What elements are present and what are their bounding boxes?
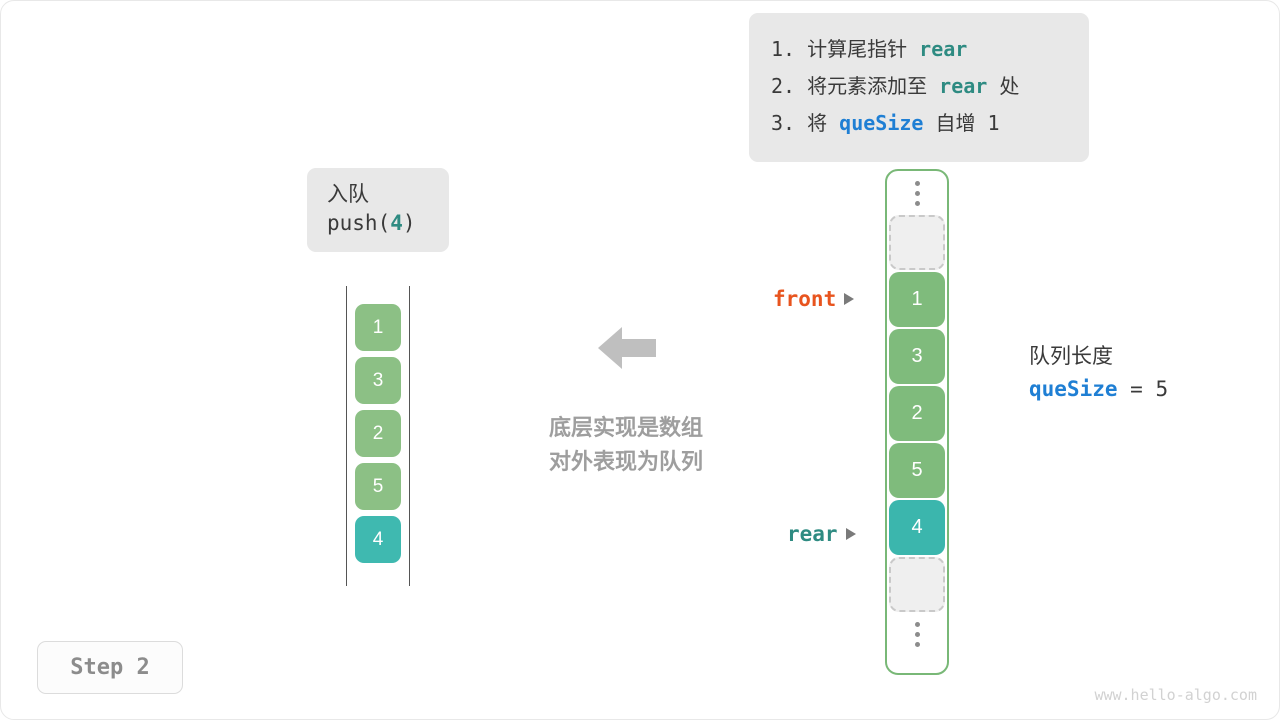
array-cell: 3 — [889, 329, 945, 384]
operation-box: 入队 push(4) — [307, 168, 449, 252]
transform-caption-line-1: 底层实现是数组 — [500, 411, 752, 445]
logical-queue: 1 3 2 5 4 — [346, 286, 410, 586]
operation-code-argument: 4 — [390, 211, 403, 235]
instruction-3-keyword: queSize — [839, 111, 923, 135]
array-cell-empty — [889, 557, 945, 612]
operation-code: push(4) — [327, 208, 449, 238]
instruction-panel: 1. 计算尾指针 rear 2. 将元素添加至 rear 处 3. 将 queS… — [749, 13, 1089, 162]
ellipsis-dot — [915, 191, 920, 196]
instruction-line-3: 3. 将 queSize 自增 1 — [771, 105, 1067, 142]
ellipsis-dot — [915, 632, 920, 637]
size-annotation-title: 队列长度 — [1029, 342, 1168, 372]
queue-cell: 3 — [355, 357, 401, 404]
instruction-3-prefix: 3. 将 — [771, 111, 839, 135]
ellipsis-dot — [915, 642, 920, 647]
array-cell-new: 4 — [889, 500, 945, 555]
ellipsis-dot — [915, 201, 920, 206]
queue-rail-left — [346, 286, 347, 586]
array-cell: 1 — [889, 272, 945, 327]
vertical-ellipsis-icon-top — [915, 171, 920, 215]
instruction-1-prefix: 1. 计算尾指针 — [771, 37, 919, 61]
size-annotation: 队列长度 queSize = 5 — [1029, 342, 1168, 406]
instruction-1-keyword: rear — [919, 37, 967, 61]
queue-cell: 2 — [355, 410, 401, 457]
caret-right-icon — [846, 528, 856, 540]
pointer-front-label: front — [773, 287, 836, 311]
queue-rail-right — [409, 286, 410, 586]
array-container: 1 3 2 5 4 — [885, 169, 949, 675]
ellipsis-dot — [915, 181, 920, 186]
operation-code-suffix: ) — [403, 211, 416, 235]
transform-caption: 底层实现是数组 对外表现为队列 — [500, 411, 752, 479]
array-cell: 2 — [889, 386, 945, 441]
instruction-2-keyword: rear — [939, 74, 987, 98]
size-annotation-expression: queSize = 5 — [1029, 372, 1168, 406]
ellipsis-dot — [915, 622, 920, 627]
illustration-canvas: 1. 计算尾指针 rear 2. 将元素添加至 rear 处 3. 将 queS… — [0, 0, 1280, 720]
arrow-left-icon — [596, 323, 658, 373]
array-cell: 5 — [889, 443, 945, 498]
pointer-rear-label: rear — [787, 522, 838, 546]
queue-cell: 5 — [355, 463, 401, 510]
operation-title: 入队 — [327, 181, 449, 208]
instruction-2-suffix: 处 — [987, 74, 1019, 98]
array-cell-empty — [889, 215, 945, 270]
instruction-line-2: 2. 将元素添加至 rear 处 — [771, 68, 1067, 105]
size-annotation-value: 5 — [1155, 377, 1168, 401]
queue-cells: 1 3 2 5 4 — [355, 304, 401, 563]
pointer-rear: rear — [787, 522, 856, 546]
transform-caption-line-2: 对外表现为队列 — [500, 445, 752, 479]
instruction-line-1: 1. 计算尾指针 rear — [771, 31, 1067, 68]
vertical-ellipsis-icon-bottom — [915, 612, 920, 656]
array-cells: 1 3 2 5 4 — [889, 215, 945, 612]
queue-cell: 1 — [355, 304, 401, 351]
operation-code-prefix: push( — [327, 211, 390, 235]
pointer-front: front — [773, 287, 854, 311]
instruction-3-suffix: 自增 1 — [923, 111, 999, 135]
caret-right-icon — [844, 293, 854, 305]
watermark: www.hello-algo.com — [1094, 686, 1257, 704]
instruction-2-prefix: 2. 将元素添加至 — [771, 74, 939, 98]
size-annotation-operator: = — [1118, 377, 1156, 401]
size-annotation-variable: queSize — [1029, 377, 1118, 401]
queue-cell-new: 4 — [355, 516, 401, 563]
step-badge: Step 2 — [37, 641, 183, 694]
